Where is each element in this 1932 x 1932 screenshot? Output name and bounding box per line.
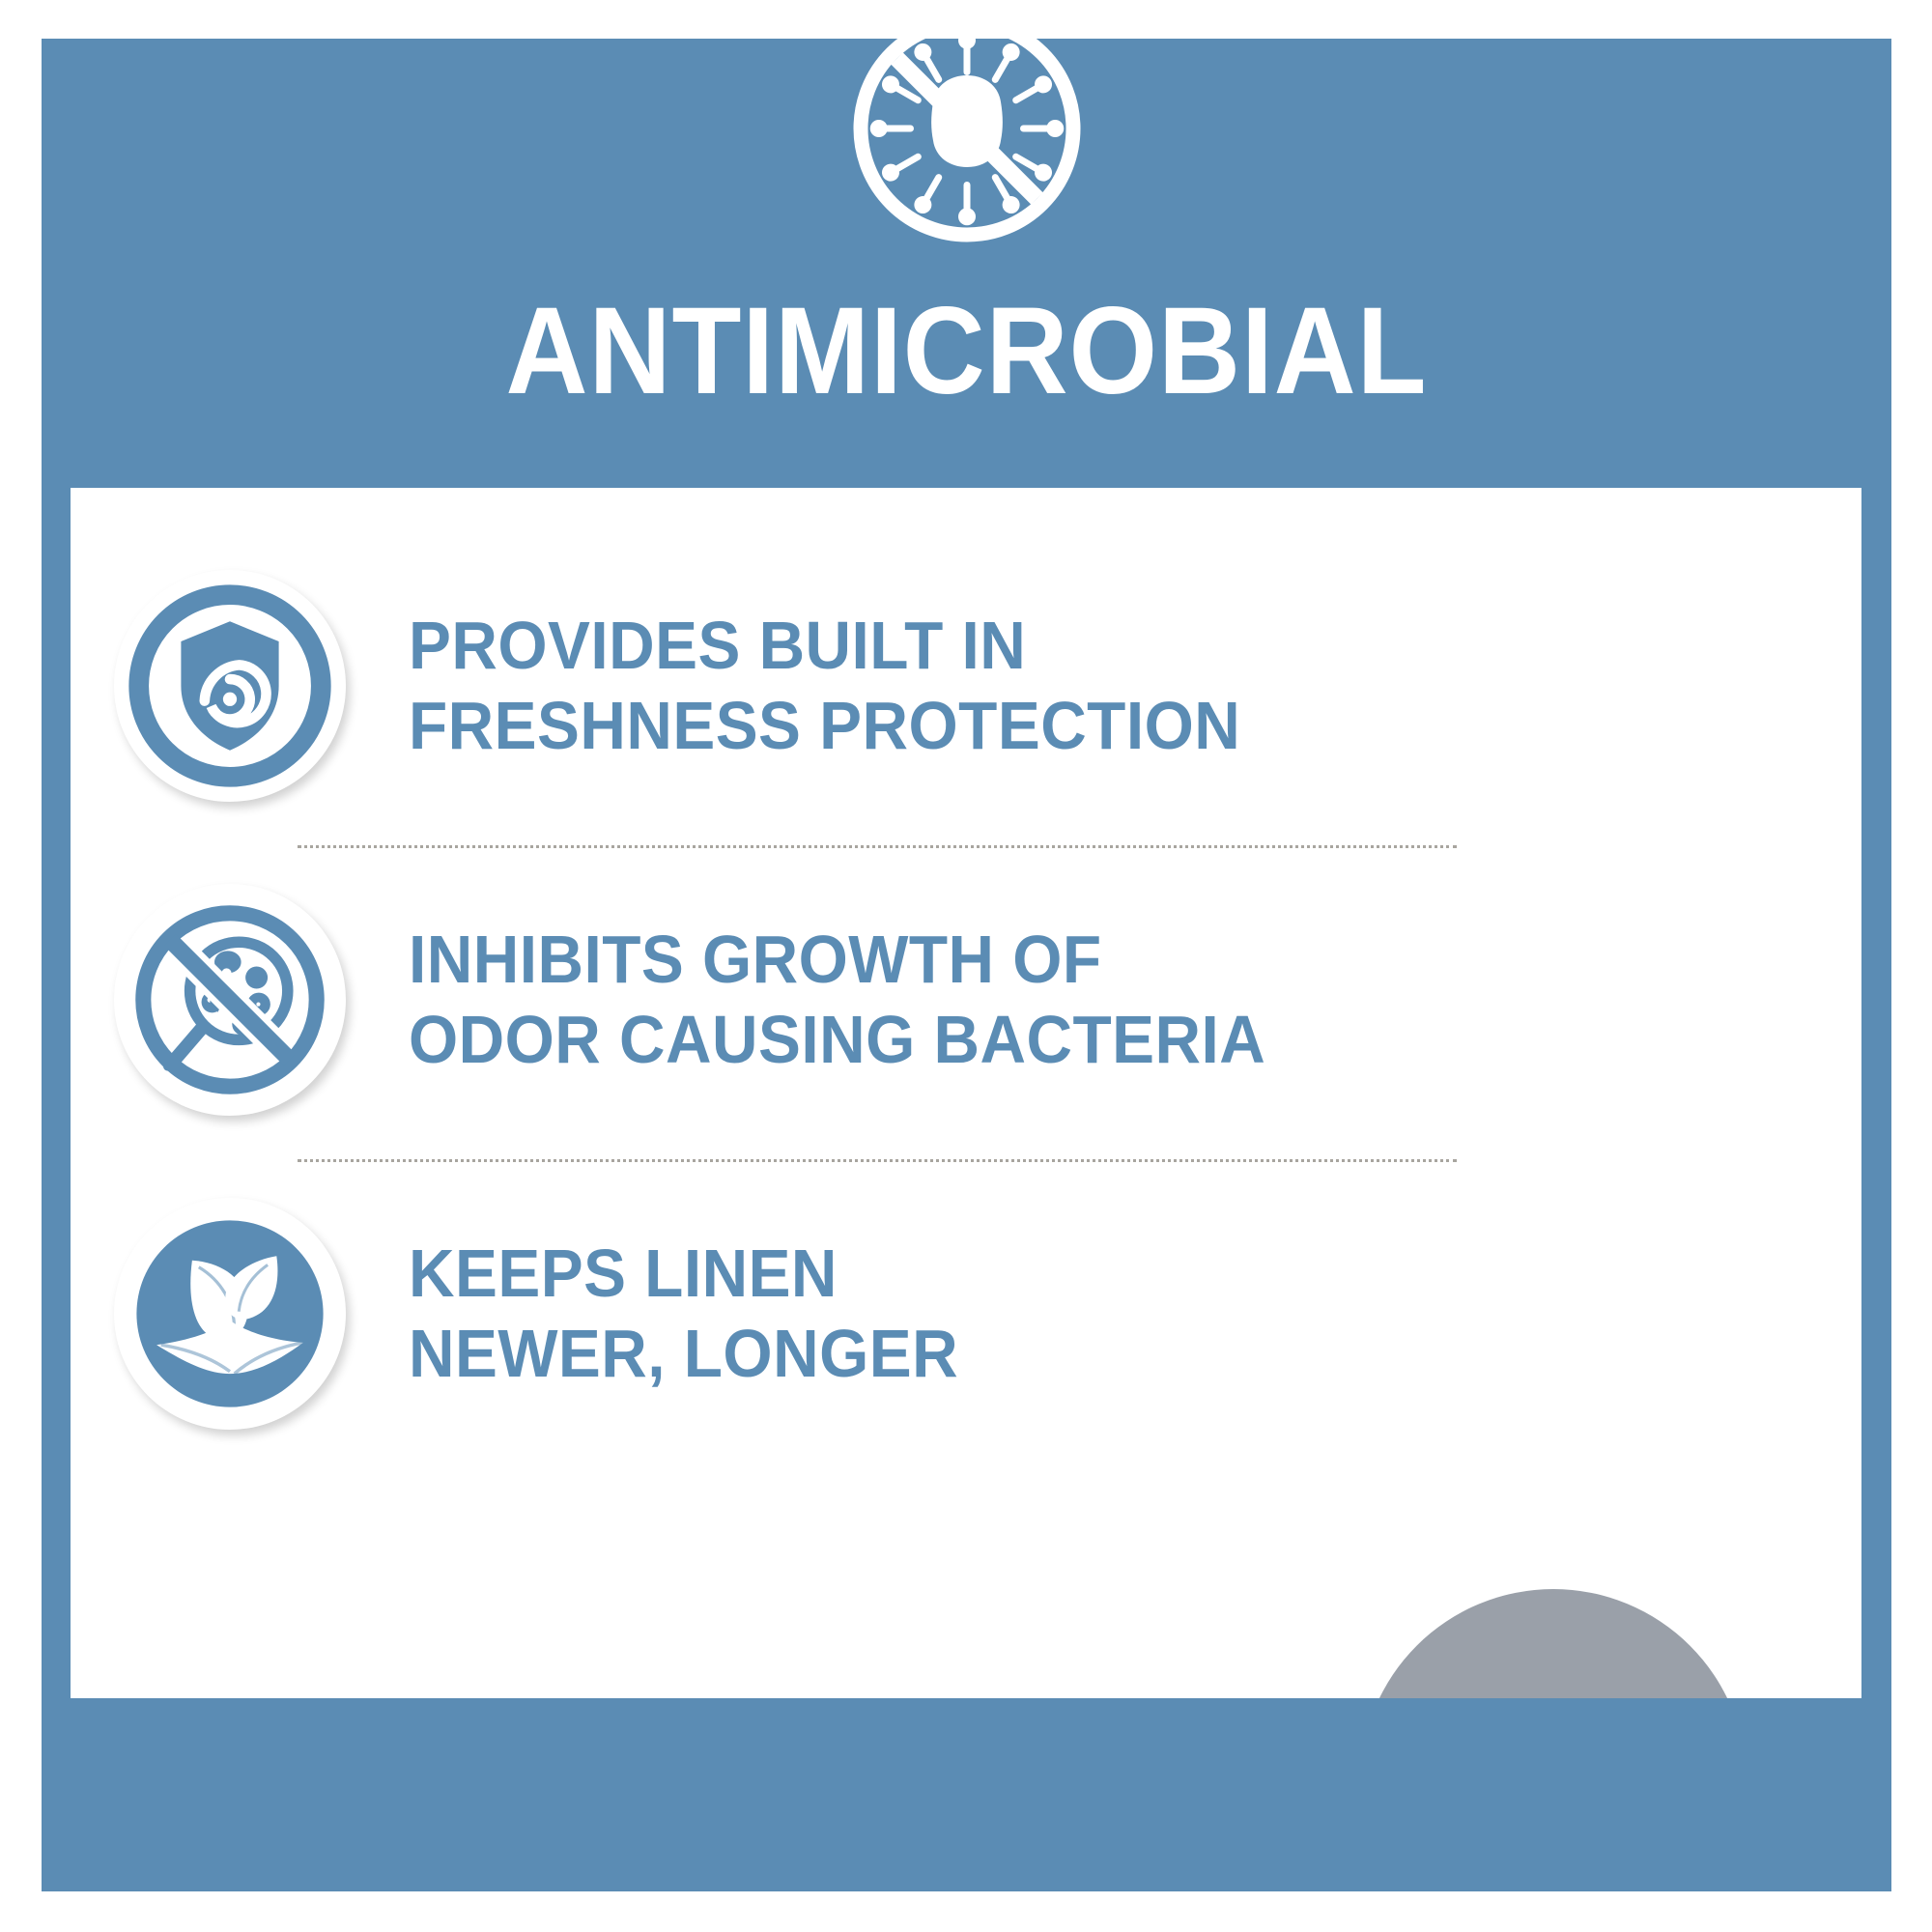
page-title: ANTIMICROBIAL	[116, 290, 1818, 413]
shield-swirl-icon	[114, 570, 346, 802]
list-item: PROVIDES BUILT IN FRESHNESS PROTECTION	[71, 546, 1861, 826]
list-item: INHIBITS GROWTH OF ODOR CAUSING BACTERIA	[71, 860, 1861, 1140]
silvadur-logo: Built-In SILVADURTM Antimicrobial Techno…	[1360, 1589, 1747, 1698]
row-divider	[298, 845, 1457, 848]
list-item: KEEPS LINEN NEWER, LONGER	[71, 1174, 1861, 1454]
feature-list: PROVIDES BUILT IN FRESHNESS PROTECTION	[71, 488, 1861, 1698]
icon-cell	[71, 1174, 389, 1454]
row-divider	[298, 1159, 1457, 1162]
feature-label: KEEPS LINEN NEWER, LONGER	[409, 1234, 1775, 1393]
text-cell: INHIBITS GROWTH OF ODOR CAUSING BACTERIA	[389, 920, 1861, 1079]
poster-header: ANTIMICROBIAL	[42, 0, 1891, 488]
infographic-poster: ANTIMICROBIAL	[0, 0, 1932, 1932]
logo-built-in-arc: Built-In	[1360, 1589, 1747, 1698]
text-cell: KEEPS LINEN NEWER, LONGER	[389, 1234, 1861, 1393]
no-bacteria-magnifier-icon	[114, 884, 346, 1116]
feature-label: INHIBITS GROWTH OF ODOR CAUSING BACTERIA	[409, 920, 1775, 1079]
text-cell: PROVIDES BUILT IN FRESHNESS PROTECTION	[389, 606, 1861, 765]
feature-label: PROVIDES BUILT IN FRESHNESS PROTECTION	[409, 606, 1775, 765]
icon-cell	[71, 546, 389, 826]
no-virus-icon	[846, 8, 1088, 249]
content-card: PROVIDES BUILT IN FRESHNESS PROTECTION	[71, 488, 1861, 1698]
icon-cell	[71, 860, 389, 1140]
leaf-sprout-icon	[114, 1198, 346, 1430]
